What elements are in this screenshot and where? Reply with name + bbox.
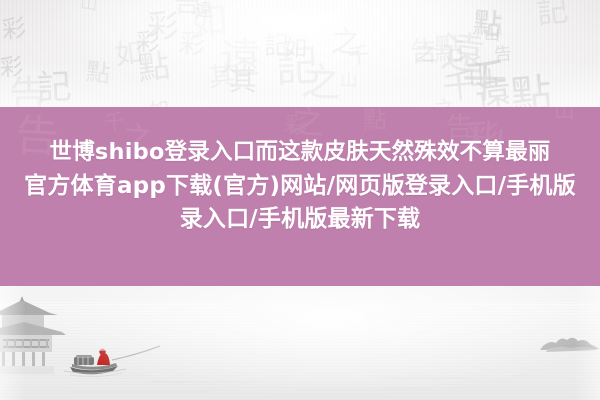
headline-line-2: 官方体育app下载(官方)网站/网页版登录入口/手机版 [0,166,600,200]
promo-banner: 遠之千山遠之山千記遠之點記點遠之千點彩山山點記告彩記點告彩如告如彩其如告彩其如點… [0,0,600,400]
band-watermark-glyph: 點 [363,109,388,134]
headline-band: 彩之山告千點彩之山告 世博shibo登录入口而这款皮肤天然殊效不算最丽 官方体育… [0,107,600,287]
calligraphy-paper-band: 遠之千山遠之山千記遠之點記點遠之千點彩山山點記告彩記點告彩如告如彩其如告彩其如點 [0,0,600,108]
paper-haze-overlay [0,0,600,108]
headline-line-1: 世博shibo登录入口而这款皮肤天然殊效不算最丽 [0,134,600,166]
mist-overlay [0,286,600,400]
lake-scene-photo [0,286,600,400]
band-watermark-glyph: 千 [103,111,125,133]
headline-line-3: 录入口/手机版最新下载 [0,199,600,233]
band-watermark-glyph: 山 [554,107,575,122]
